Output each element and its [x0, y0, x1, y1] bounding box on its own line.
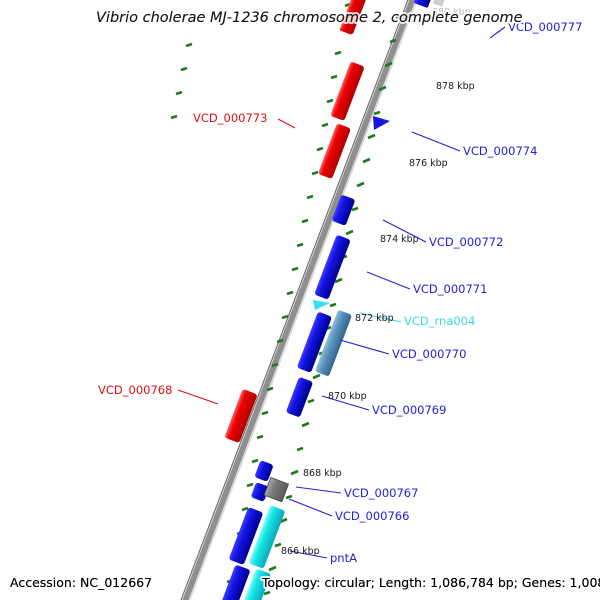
gene-body — [286, 377, 313, 418]
axis-tick-label: 870 kbp — [328, 391, 367, 402]
gene-label-VCD_000769[interactable]: VCD_000769 — [372, 403, 446, 417]
gene-label-VCD_000774[interactable]: VCD_000774 — [463, 144, 537, 158]
gene-label-VCD_000766[interactable]: VCD_000766 — [335, 509, 409, 523]
gene-label-VCD_000767[interactable]: VCD_000767 — [344, 486, 418, 500]
gene-body — [433, 0, 452, 7]
genome-summary: Topology: circular; Length: 1,086,784 bp… — [261, 575, 600, 590]
gene-label-VCD_rna004[interactable]: VCD_rna004 — [404, 314, 475, 328]
feature-strip-top-gray — [433, 0, 452, 7]
page-title: Vibrio cholerae MJ-1236 chromosome 2, co… — [96, 10, 523, 26]
axis-tick-label: 868 kbp — [303, 468, 342, 479]
feature-VCD_000769[interactable] — [286, 377, 313, 418]
feature-VCD_000774[interactable] — [373, 116, 390, 130]
leader-VCD_000766 — [289, 499, 332, 516]
leader-VCD_000770 — [340, 340, 389, 354]
accession-label: Accession: NC_012667 — [10, 575, 152, 590]
gene-label-VCD_000771[interactable]: VCD_000771 — [413, 282, 487, 296]
gene-label-VCD_000768[interactable]: VCD_000768 — [98, 383, 172, 397]
gene-arrow — [313, 300, 330, 310]
genome-map-viewer: 880 kbp 878 kbp 876 kbp 874 kbp 872 kbp … — [0, 0, 600, 600]
gene-arrow — [373, 116, 390, 130]
axis-tick-label: 876 kbp — [409, 158, 448, 169]
gene-label-VCD_000770[interactable]: VCD_000770 — [392, 347, 466, 361]
leader-VCD_000768 — [178, 390, 218, 404]
gene-label-VCD_000772[interactable]: VCD_000772 — [429, 235, 503, 249]
axis-tick-label: 872 kbp — [355, 313, 394, 324]
map-title-group: Vibrio cholerae MJ-1236 chromosome 2, co… — [96, 10, 523, 26]
status-bar: Accession: NC_012667 Accession: NC_01266… — [10, 575, 600, 590]
gene-body — [221, 564, 250, 600]
feature-VCD_000766[interactable] — [264, 477, 288, 501]
genome-map-canvas[interactable]: 880 kbp 878 kbp 876 kbp 874 kbp 872 kbp … — [0, 0, 600, 600]
coordinate-tick-ring — [171, 4, 402, 594]
leader-VCD_000767 — [296, 487, 341, 493]
gene-body — [264, 477, 288, 501]
gene-label-pntA[interactable]: pntA — [330, 551, 357, 565]
axis-tick-label: 866 kbp — [281, 546, 320, 557]
axis-tick-label: 874 kbp — [380, 234, 419, 245]
feature-VCD_000773[interactable] — [330, 61, 365, 121]
leader-VCD_000777 — [490, 27, 505, 38]
leader-VCD_000771 — [367, 272, 410, 289]
feature-bottom-blue-2[interactable] — [221, 564, 250, 600]
gene-label-VCD_000773[interactable]: VCD_000773 — [193, 111, 267, 125]
tick-ring-marks — [171, 4, 402, 594]
axis-tick-label: 878 kbp — [436, 81, 475, 92]
gene-body — [330, 61, 365, 121]
feature-small-cyan-arrow[interactable] — [313, 300, 330, 310]
leader-VCD_000774 — [412, 132, 460, 151]
leader-VCD_000773 — [278, 119, 295, 128]
